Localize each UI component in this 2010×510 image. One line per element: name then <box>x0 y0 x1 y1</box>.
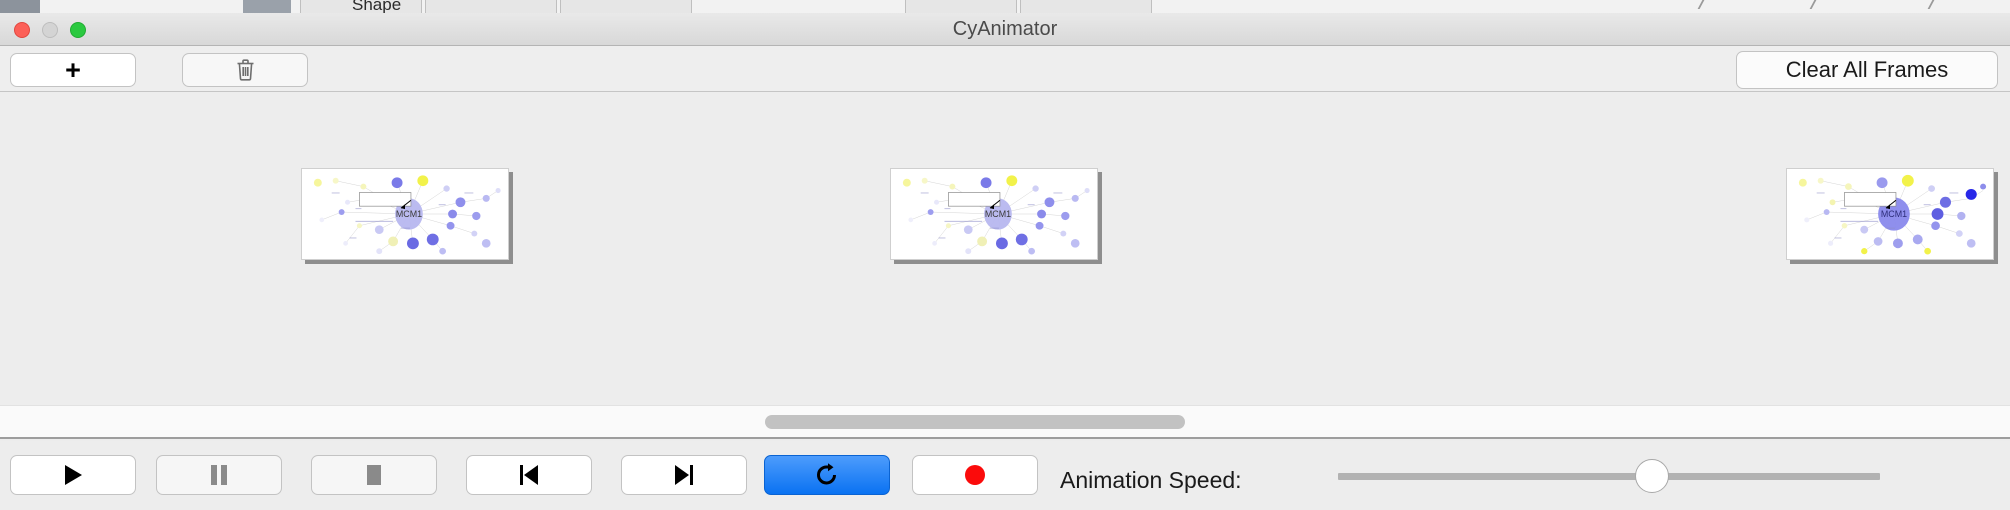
skip-start-icon <box>518 463 540 487</box>
clear-all-frames-button[interactable]: Clear All Frames <box>1736 51 1998 89</box>
network-thumbnail-svg: MCM1 <box>891 169 1097 259</box>
background-window-chip <box>0 0 40 14</box>
horizontal-scrollbar[interactable] <box>0 405 2010 439</box>
loop-button[interactable] <box>764 455 890 495</box>
svg-text:MCM1: MCM1 <box>396 209 422 219</box>
timeline-frame-thumbnail[interactable]: MCM1 <box>301 168 509 260</box>
svg-text:MCM1: MCM1 <box>985 209 1011 219</box>
background-tab-3 <box>560 0 692 14</box>
timeline-frame-thumbnail[interactable]: MCM1 <box>1786 168 1994 260</box>
background-mark-3 <box>1928 0 1944 9</box>
record-button[interactable] <box>912 455 1038 495</box>
clear-all-frames-label: Clear All Frames <box>1786 57 1949 83</box>
thumbnail-shadow-right <box>1098 172 1102 264</box>
thumbnail-shadow-bottom <box>894 260 1102 264</box>
animation-speed-slider[interactable] <box>1338 473 1880 480</box>
background-window-label: Shape <box>352 0 401 14</box>
thumbnail-canvas: MCM1 <box>301 168 509 260</box>
title-bar[interactable]: CyAnimator <box>0 13 2010 46</box>
network-thumbnail-svg: MCM1 <box>302 169 508 259</box>
pause-icon <box>209 463 229 487</box>
pause-button[interactable] <box>156 455 282 495</box>
delete-frame-button[interactable] <box>182 53 308 87</box>
thumbnail-shadow-bottom <box>305 260 513 264</box>
background-tab-2 <box>425 0 557 14</box>
window-title: CyAnimator <box>0 13 2010 46</box>
record-icon <box>963 463 987 487</box>
loop-icon <box>814 462 840 488</box>
slider-thumb[interactable] <box>1635 459 1669 493</box>
play-button[interactable] <box>10 455 136 495</box>
timeline-panel[interactable]: MCM1 <box>0 92 2010 405</box>
background-tab-5 <box>1020 0 1152 14</box>
svg-text:MCM1: MCM1 <box>1881 209 1907 219</box>
background-window-chip-2 <box>243 0 291 14</box>
add-frame-button[interactable]: + <box>10 53 136 87</box>
background-mark-1 <box>1698 0 1714 9</box>
play-icon <box>62 463 84 487</box>
playback-controls: Animation Speed: <box>0 441 2010 510</box>
plus-icon: + <box>65 57 81 84</box>
skip-start-button[interactable] <box>466 455 592 495</box>
thumbnail-shadow-right <box>1994 172 1998 264</box>
network-thumbnail-svg: MCM1 <box>1787 169 1993 259</box>
background-mark-2 <box>1810 0 1826 9</box>
thumbnail-shadow-right <box>509 172 513 264</box>
animation-speed-label: Animation Speed: <box>1060 467 1242 494</box>
background-tab-4 <box>905 0 1017 14</box>
skip-end-icon <box>673 463 695 487</box>
toolbar: + Clear All Frames <box>0 46 2010 92</box>
trash-icon <box>235 58 256 82</box>
horizontal-scroll-thumb[interactable] <box>765 415 1185 429</box>
cyanimator-window: Shape CyAnimator + Clear All F <box>0 0 2010 510</box>
thumbnail-canvas: MCM1 <box>890 168 1098 260</box>
stop-button[interactable] <box>311 455 437 495</box>
thumbnail-shadow-bottom <box>1790 260 1998 264</box>
slider-track[interactable] <box>1338 473 1880 480</box>
skip-end-button[interactable] <box>621 455 747 495</box>
thumbnail-canvas: MCM1 <box>1786 168 1994 260</box>
stop-icon <box>364 463 384 487</box>
timeline-frame-thumbnail[interactable]: MCM1 <box>890 168 1098 260</box>
